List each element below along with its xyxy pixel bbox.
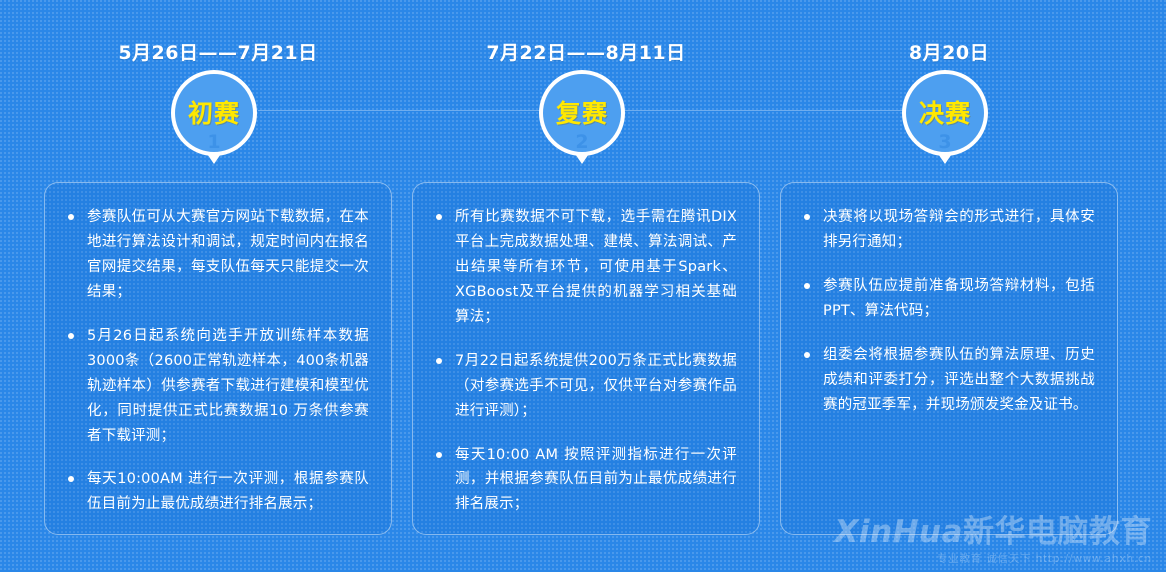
bullet-text: 参赛队伍可从大赛官方网站下载数据，在本地进行算法设计和调试，规定时间内在报名官网…: [87, 209, 369, 300]
bullet-dot-icon: [804, 283, 810, 289]
timeline-infographic: 5月26日——7月21日 初赛 1 参赛队伍可从大赛官方网站下载数据，在本地进行…: [0, 0, 1166, 572]
list-item: 7月22日起系统提供200万条正式比赛数据（对参赛选手不可见，仅供平台对参赛作品…: [431, 349, 737, 424]
bullet-text: 参赛队伍应提前准备现场答辩材料，包括PPT、算法代码；: [823, 278, 1095, 319]
bullet-dot-icon: [436, 452, 442, 458]
stage-card-3: 决赛将以现场答辩会的形式进行，具体安排另行通知； 参赛队伍应提前准备现场答辩材料…: [780, 182, 1118, 535]
bullet-dot-icon: [436, 358, 442, 364]
bullet-list-2: 所有比赛数据不可下载，选手需在腾讯DIX平台上完成数据处理、建模、算法调试、产出…: [431, 205, 737, 535]
marker-index-2: 2: [539, 133, 625, 152]
list-item: 决赛将以现场答辩会的形式进行，具体安排另行通知；: [799, 205, 1095, 255]
bullet-list-1: 参赛队伍可从大赛官方网站下载数据，在本地进行算法设计和调试，规定时间内在报名官网…: [63, 205, 369, 535]
bullet-text: 组委会将根据参赛队伍的算法原理、历史成绩和评委打分，评选出整个大数据挑战赛的冠亚…: [823, 347, 1095, 413]
bullet-text: 决赛将以现场答辩会的形式进行，具体安排另行通知；: [823, 209, 1095, 250]
marker-title-3: 决赛: [919, 101, 971, 126]
stage-card-1: 参赛队伍可从大赛官方网站下载数据，在本地进行算法设计和调试，规定时间内在报名官网…: [44, 182, 392, 535]
bullet-text: 5月26日起系统向选手开放训练样本数据3000条（2600正常轨迹样本，400条…: [87, 328, 369, 444]
bullet-text: 每天10:00AM 进行一次评测，根据参赛队伍目前为止最优成绩进行排名展示；: [87, 471, 369, 512]
list-item: 所有比赛数据不可下载，选手需在腾讯DIX平台上完成数据处理、建模、算法调试、产出…: [431, 205, 737, 330]
bullet-text: 每天10:00 AM 按照评测指标进行一次评测，并根据参赛队伍目前为止最优成绩进…: [455, 447, 737, 513]
stage-date-2: 7月22日——8月11日: [412, 38, 760, 65]
bullet-dot-icon: [68, 476, 74, 482]
stage-card-2: 所有比赛数据不可下载，选手需在腾讯DIX平台上完成数据处理、建模、算法调试、产出…: [412, 182, 760, 535]
list-item: 参赛队伍应提前准备现场答辩材料，包括PPT、算法代码；: [799, 274, 1095, 324]
timeline-connector-2-3: [624, 110, 904, 111]
watermark-subtitle: 专业教育 诚信天下 http://www.ahxh.cn: [834, 551, 1152, 566]
bullet-dot-icon: [68, 214, 74, 220]
stage-marker-3[interactable]: 决赛 3: [902, 70, 996, 166]
list-item: 5月26日起系统向选手开放训练样本数据3000条（2600正常轨迹样本，400条…: [63, 324, 369, 449]
marker-title-1: 初赛: [188, 101, 240, 126]
bullet-list-3: 决赛将以现场答辩会的形式进行，具体安排另行通知； 参赛队伍应提前准备现场答辩材料…: [799, 205, 1095, 418]
marker-title-2: 复赛: [556, 101, 608, 126]
stage-date-3: 8月20日: [780, 38, 1118, 65]
marker-index-1: 1: [171, 133, 257, 152]
list-item: 组委会将根据参赛队伍的算法原理、历史成绩和评委打分，评选出整个大数据挑战赛的冠亚…: [799, 343, 1095, 418]
timeline-connector-1-2: [258, 110, 543, 111]
list-item: 每天10:00 AM 按照评测指标进行一次评测，并根据参赛队伍目前为止最优成绩进…: [431, 443, 737, 518]
bullet-text: 7月22日起系统提供200万条正式比赛数据（对参赛选手不可见，仅供平台对参赛作品…: [455, 353, 737, 419]
stage-date-1: 5月26日——7月21日: [44, 38, 392, 65]
bullet-text: 所有比赛数据不可下载，选手需在腾讯DIX平台上完成数据处理、建模、算法调试、产出…: [455, 209, 737, 325]
bullet-dot-icon: [68, 333, 74, 339]
stage-marker-2[interactable]: 复赛 2: [539, 70, 633, 166]
bullet-dot-icon: [436, 214, 442, 220]
stage-marker-1[interactable]: 初赛 1: [171, 70, 265, 166]
bullet-dot-icon: [804, 214, 810, 220]
list-item: 每天10:00AM 进行一次评测，根据参赛队伍目前为止最优成绩进行排名展示；: [63, 467, 369, 517]
list-item: 参赛队伍可从大赛官方网站下载数据，在本地进行算法设计和调试，规定时间内在报名官网…: [63, 205, 369, 305]
bullet-dot-icon: [804, 352, 810, 358]
marker-index-3: 3: [902, 133, 988, 152]
